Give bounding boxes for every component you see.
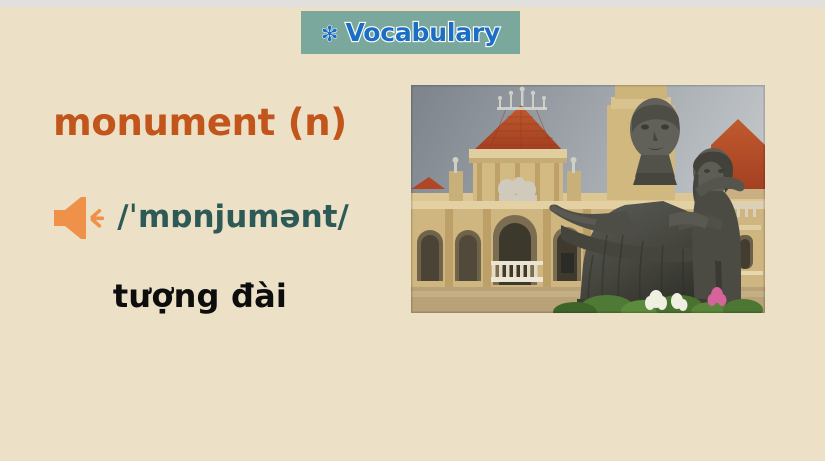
vocabulary-title-banner: ✻ Vocabulary (301, 11, 520, 54)
pronunciation-row: /ˈmɒnjumənt/ (0, 192, 400, 244)
vocabulary-word: monument (n) (0, 101, 400, 144)
top-edge-strip (0, 0, 825, 7)
vocabulary-title-text: Vocabulary (346, 18, 501, 47)
speaker-icon[interactable] (51, 192, 107, 244)
monument-photo-illustration (411, 85, 765, 313)
monument-photo (411, 85, 765, 313)
vocabulary-slide: ✻ Vocabulary monument (n) /ˈmɒnjumənt/ t… (0, 0, 825, 461)
vocabulary-meaning: tượng đài (0, 277, 400, 315)
asterisk-bullet-icon: ✻ (321, 24, 339, 45)
pronunciation-ipa: /ˈmɒnjumənt/ (117, 199, 349, 235)
